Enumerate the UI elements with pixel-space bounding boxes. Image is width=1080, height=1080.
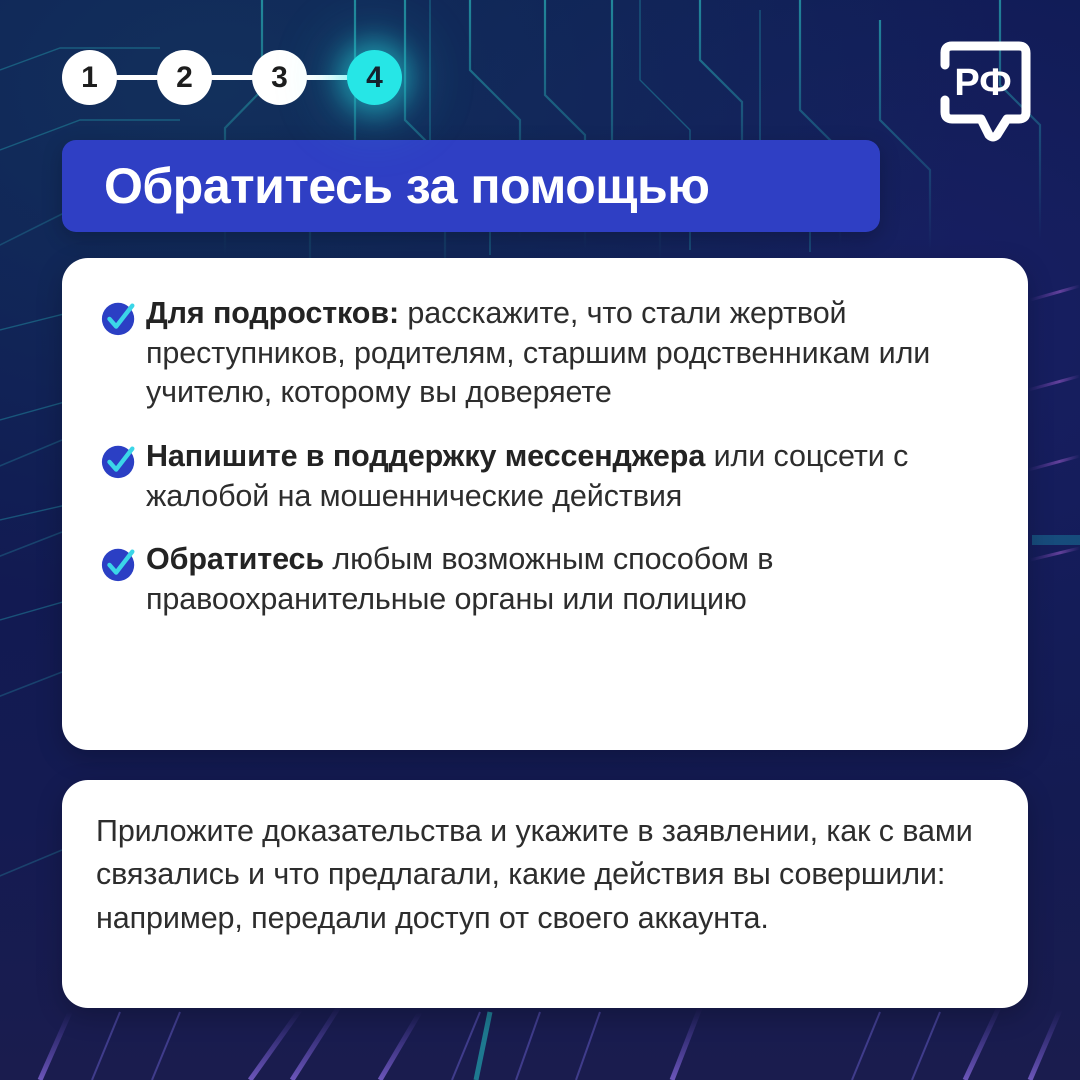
- rf-logo-text: РФ: [954, 62, 1011, 104]
- check-circle-icon: [100, 299, 138, 337]
- note-text: Приложите доказательства и укажите в зая…: [96, 810, 984, 940]
- advice-item-1-text: Для подростков: расскажите, что стали же…: [146, 294, 988, 413]
- advice-item-2: Напишите в поддержку мессенджера или соц…: [100, 437, 988, 516]
- poster-root: 1 2 3 4 РФ Обратитесь за помощью Д: [0, 0, 1080, 1080]
- advice-card: Для подростков: расскажите, что стали же…: [62, 258, 1028, 750]
- advice-item-2-text: Напишите в поддержку мессенджера или соц…: [146, 437, 988, 516]
- check-circle-icon: [100, 442, 138, 480]
- advice-item-3: Обратитесь любым возможным способом в пр…: [100, 540, 988, 619]
- rf-speech-bubble-icon: РФ: [935, 38, 1035, 146]
- page-title: Обратитесь за помощью: [62, 157, 709, 215]
- step-1[interactable]: 1: [62, 50, 117, 105]
- note-card: Приложите доказательства и укажите в зая…: [62, 780, 1028, 1008]
- advice-item-1: Для подростков: расскажите, что стали же…: [100, 294, 988, 413]
- advice-item-2-bold: Напишите в поддержку мессенджера: [146, 439, 705, 473]
- step-4-active[interactable]: 4: [347, 50, 402, 105]
- step-connector-1: [115, 75, 159, 80]
- step-3[interactable]: 3: [252, 50, 307, 105]
- advice-item-1-bold: Для подростков:: [146, 296, 399, 330]
- step-2[interactable]: 2: [157, 50, 212, 105]
- rf-logo: РФ: [935, 38, 1035, 146]
- check-circle-icon-3: [100, 540, 146, 583]
- advice-item-3-bold: Обратитесь: [146, 542, 324, 576]
- title-banner: Обратитесь за помощью: [62, 140, 880, 232]
- check-circle-icon: [100, 545, 138, 583]
- check-circle-icon-2: [100, 437, 146, 480]
- check-circle-icon-1: [100, 294, 146, 337]
- step-connector-3: [305, 75, 349, 80]
- step-indicator: 1 2 3 4: [62, 50, 402, 105]
- step-connector-2: [210, 75, 254, 80]
- advice-item-3-text: Обратитесь любым возможным способом в пр…: [146, 540, 988, 619]
